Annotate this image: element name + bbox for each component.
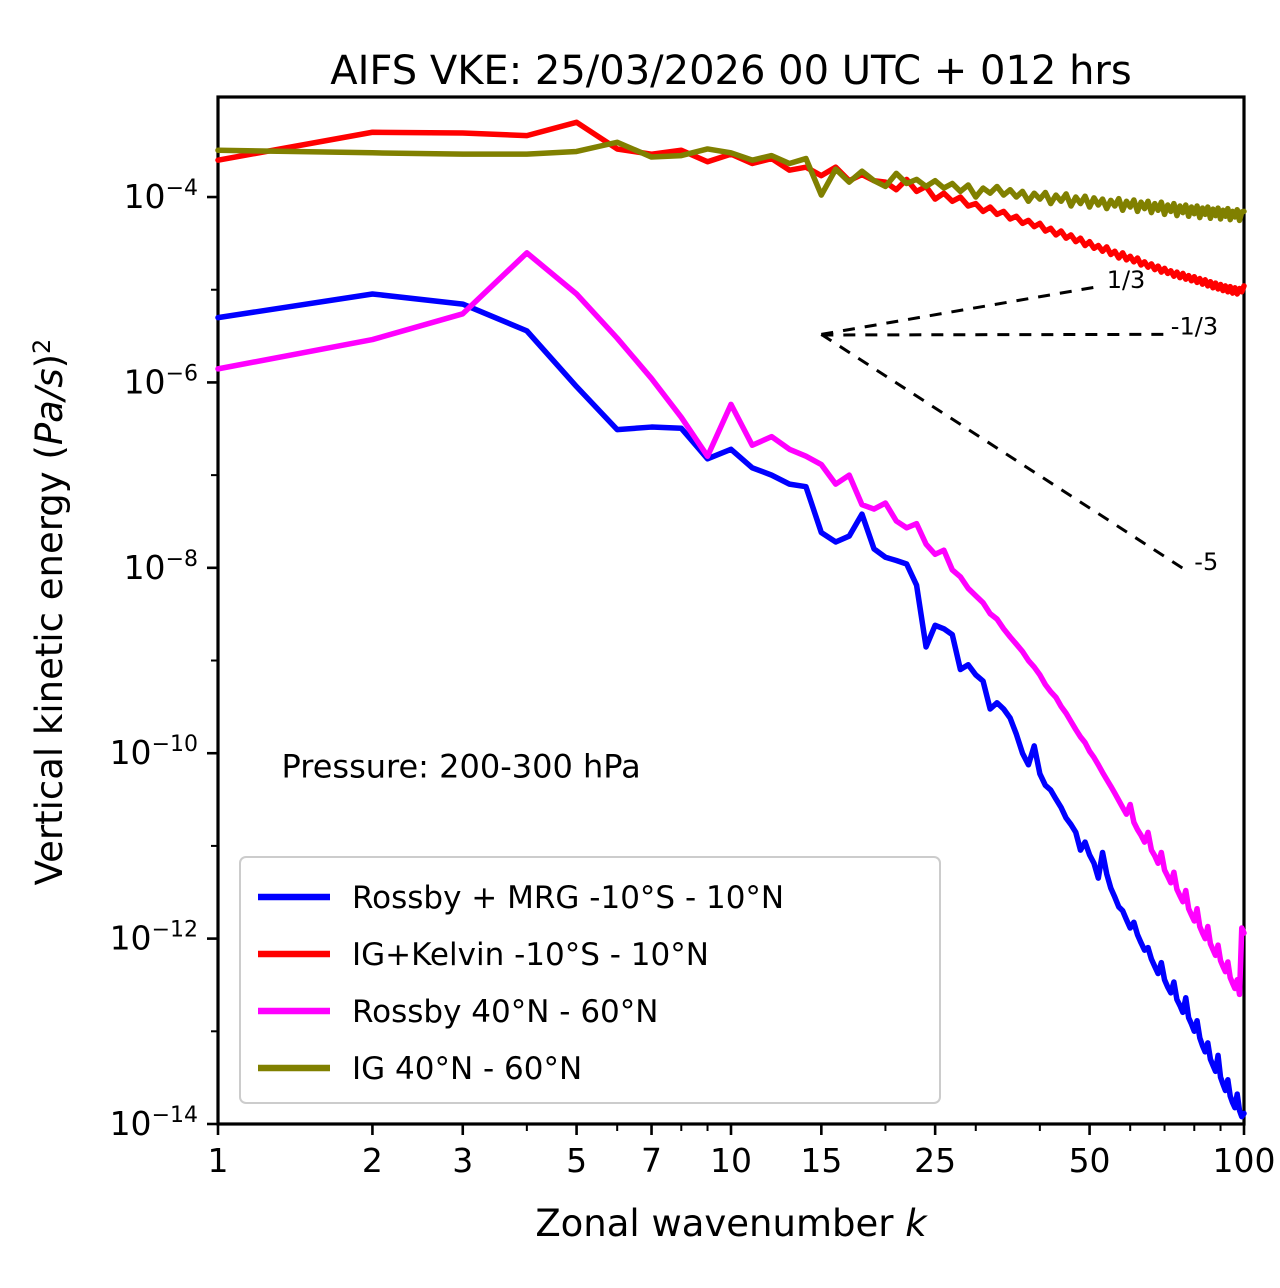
reference-lines-group: [821, 286, 1188, 572]
y-axis-label: Vertical kinetic energy (Pa/s)2: [28, 339, 71, 886]
legend-item-label[interactable]: IG 40°N - 60°N: [352, 1051, 582, 1087]
x-tick-label: 5: [566, 1141, 587, 1180]
x-tick-label: 50: [1069, 1141, 1111, 1180]
y-axis-ticks: 10−410−610−810−1010−1210−14: [110, 176, 218, 1143]
chart-annotations-group: Pressure: 200-300 hPa1/3-1/3-5: [282, 266, 1219, 786]
legend-item-label[interactable]: IG+Kelvin -10°S - 10°N: [352, 937, 709, 973]
legend-item-label[interactable]: Rossby 40°N - 60°N: [352, 994, 658, 1030]
svg-text:Vertical kinetic energy (Pa/s): Vertical kinetic energy (Pa/s)2: [28, 339, 71, 886]
slope-plus-one-third: [821, 286, 1102, 334]
y-tick-label: 10−8: [124, 547, 198, 587]
x-tick-label: 10: [710, 1141, 752, 1180]
x-tick-label: 1: [208, 1141, 229, 1180]
y-axis-label-italic: Pa/s: [28, 368, 71, 445]
x-axis-label: Zonal wavenumber k: [535, 1202, 928, 1245]
slope-label-minus-five: -5: [1194, 548, 1218, 576]
figure-container: AIFS VKE: 25/03/2026 00 UTC + 012 hrs Ve…: [0, 0, 1280, 1288]
y-axis-label-prefix: Vertical kinetic energy (: [28, 445, 71, 885]
slope-label-plus-one-third: 1/3: [1107, 266, 1146, 294]
pressure-annotation: Pressure: 200-300 hPa: [282, 747, 641, 785]
x-tick-label: 2: [362, 1141, 383, 1180]
vke-spectrum-chart: AIFS VKE: 25/03/2026 00 UTC + 012 hrs Ve…: [0, 0, 1280, 1288]
x-tick-label: 25: [914, 1141, 956, 1180]
x-axis-label-prefix: Zonal wavenumber: [535, 1202, 905, 1245]
x-axis-ticks: 1235710152550100: [208, 1124, 1276, 1180]
y-tick-label: 10−10: [110, 732, 198, 772]
x-tick-label: 3: [452, 1141, 473, 1180]
svg-text:Zonal wavenumber k: Zonal wavenumber k: [535, 1202, 928, 1245]
slope-minus-one-third: [821, 334, 1164, 335]
x-axis-label-italic: k: [905, 1202, 928, 1245]
slope-label-minus-one-third: -1/3: [1171, 312, 1218, 340]
x-tick-label: 15: [800, 1141, 842, 1180]
series-line: [218, 142, 1244, 220]
slope-minus-five: [821, 334, 1188, 572]
x-tick-label: 100: [1213, 1141, 1276, 1180]
legend-item-label[interactable]: Rossby + MRG -10°S - 10°N: [352, 880, 784, 916]
y-axis-label-exponent: 2: [28, 339, 56, 354]
y-tick-label: 10−14: [110, 1103, 198, 1143]
y-tick-label: 10−12: [110, 918, 198, 958]
chart-title: AIFS VKE: 25/03/2026 00 UTC + 012 hrs: [330, 48, 1131, 94]
x-tick-label: 7: [641, 1141, 662, 1180]
y-tick-label: 10−6: [124, 361, 198, 401]
y-tick-label: 10−4: [124, 176, 198, 216]
chart-legend[interactable]: Rossby + MRG -10°S - 10°NIG+Kelvin -10°S…: [240, 857, 940, 1103]
y-axis-label-suffix: ): [28, 354, 71, 368]
